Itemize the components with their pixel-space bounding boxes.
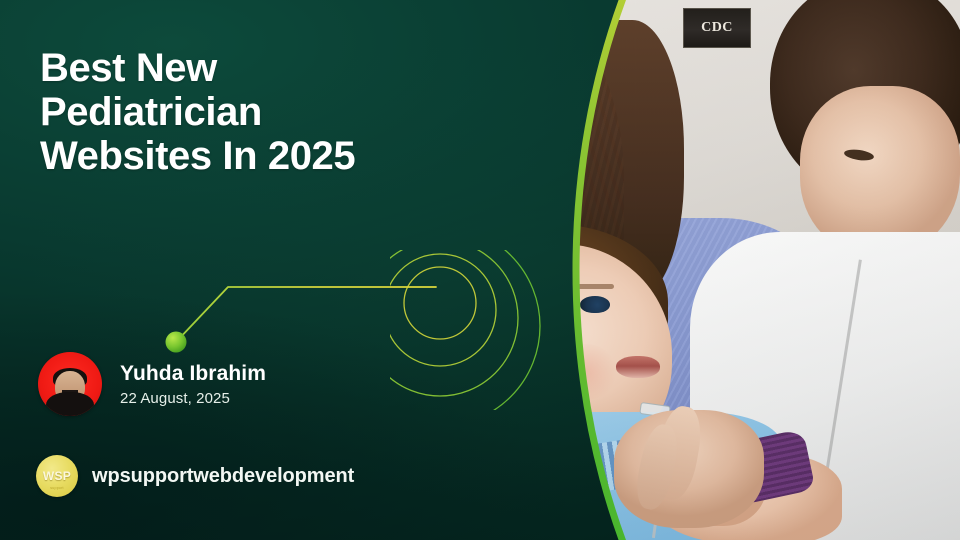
page-title: Best New Pediatrician Websites In 2025 <box>40 46 440 178</box>
avatar <box>38 352 102 416</box>
title-line-2: Pediatrician <box>40 90 440 134</box>
title-line-3: Websites In 2025 <box>40 134 440 178</box>
author-meta: Yuhda Ibrahim 22 August, 2025 <box>120 362 266 407</box>
cdc-sign-label: CDC <box>701 20 733 36</box>
baby-mouth <box>616 356 660 378</box>
cdc-sign: CDC <box>683 8 751 48</box>
title-line-1: Best New <box>40 46 440 90</box>
mother-face <box>458 26 586 194</box>
wsp-logo-mark: WSP <box>43 469 71 483</box>
mother-nose <box>516 112 534 148</box>
mother-eye-left <box>482 103 510 113</box>
wsp-logo-subtext: support <box>36 486 78 490</box>
mother-brow-left <box>480 90 510 98</box>
publish-date: 22 August, 2025 <box>120 390 266 407</box>
baby-eye <box>580 296 610 313</box>
mother-lips <box>502 160 554 176</box>
baby-ear <box>444 322 488 378</box>
author-block: Yuhda Ibrahim 22 August, 2025 <box>38 352 266 416</box>
nurse-face <box>800 86 960 256</box>
author-name: Yuhda Ibrahim <box>120 362 266 386</box>
avatar-body <box>46 392 94 416</box>
mother-eye-right <box>532 102 560 111</box>
baby-brow <box>576 284 614 289</box>
wsp-logo-icon: WSP support <box>36 455 78 497</box>
brand-block[interactable]: WSP support wpsupportwebdevelopment <box>36 455 354 497</box>
mother-brow-right <box>530 89 560 96</box>
baby-cheek <box>552 344 618 400</box>
connector-dot <box>166 332 187 353</box>
slide-canvas: CDC <box>0 0 960 540</box>
brand-name: wpsupportwebdevelopment <box>92 465 354 488</box>
